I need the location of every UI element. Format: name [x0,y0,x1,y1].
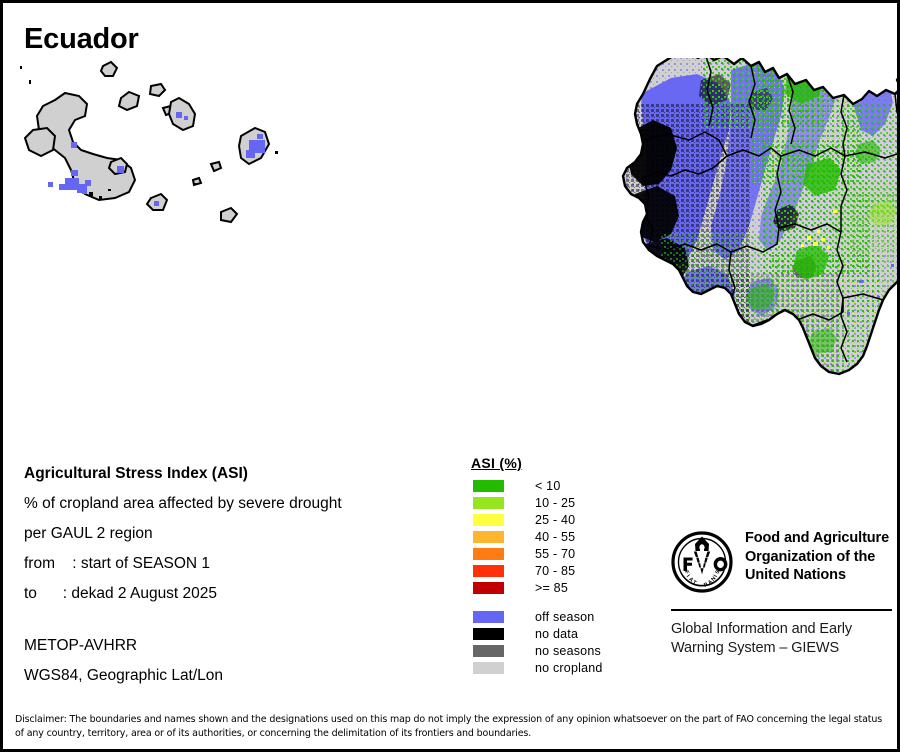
legend-row: 10 - 25 [471,494,661,511]
info-region-level: per GAUL 2 region [24,519,444,549]
legend-label: 25 - 40 [535,513,575,527]
info-description: % of cropland area affected by severe dr… [24,489,444,519]
legend-swatch-55-70 [473,548,504,560]
fao-branding: F I A T P A N I S Food and Agriculture O… [671,529,896,658]
legend-swatch-70-85 [473,565,504,577]
legend-label: no data [535,627,578,641]
legend-label: >= 85 [535,581,568,595]
giews-line1: Global Information and Early [671,620,896,639]
legend-swatch-40-55 [473,531,504,543]
legend-title: ASI (%) [471,455,661,471]
fao-org-name: Food and Agriculture Organization of the… [745,529,889,585]
fao-org-line1: Food and Agriculture [745,529,889,548]
legend-swatch-no-data [473,628,504,640]
legend-row: no data [471,625,661,642]
fao-org-line2: Organization of the [745,548,889,567]
info-sensor: METOP-AVHRR [24,631,444,661]
fao-org-line3: United Nations [745,566,889,585]
legend-label: no cropland [535,661,603,675]
legend-label: 55 - 70 [535,547,575,561]
legend-swatch-no-cropland [473,662,504,674]
legend-swatch-no-seasons [473,645,504,657]
legend-label: 70 - 85 [535,564,575,578]
legend-label: < 10 [535,479,560,493]
legend-row: >= 85 [471,579,661,596]
legend-row: no seasons [471,642,661,659]
giews-line2: Warning System – GIEWS [671,639,896,658]
page-title: Ecuador [24,23,139,56]
legend-swatch-off-season [473,611,504,623]
legend-row: < 10 [471,477,661,494]
galapagos-islands [25,62,278,222]
info-period-from: from : start of SEASON 1 [24,549,444,579]
legend-row: 40 - 55 [471,528,661,545]
legend-row: off season [471,608,661,625]
disclaimer-text: Disclaimer: The boundaries and names sho… [15,713,891,740]
legend-row: 25 - 40 [471,511,661,528]
legend-label: 10 - 25 [535,496,575,510]
legend-label: 40 - 55 [535,530,575,544]
map-canvas[interactable] [3,58,897,438]
info-heading: Agricultural Stress Index (ASI) [24,459,444,489]
legend-row: 70 - 85 [471,562,661,579]
info-period-to: to : dekad 2 August 2025 [24,579,444,609]
info-spacer [24,609,444,631]
asi-legend: ASI (%) < 10 10 - 25 25 - 40 40 - 55 55 … [471,455,661,676]
legend-row: 55 - 70 [471,545,661,562]
legend-label: no seasons [535,644,601,658]
info-projection: WGS84, Geographic Lat/Lon [24,661,444,691]
giews-name: Global Information and Early Warning Sys… [671,620,896,658]
asi-map-page: Ecuador [0,0,900,752]
ecuador-mainland [601,58,897,404]
legend-swatch-10-25 [473,497,504,509]
ecuador-map-svg [3,58,897,438]
legend-row: no cropland [471,659,661,676]
fao-logo-icon: F I A T P A N I S [671,531,733,598]
fao-divider [671,609,892,611]
legend-spacer [471,596,661,608]
legend-swatch-25-40 [473,514,504,526]
map-info-block: Agricultural Stress Index (ASI) % of cro… [24,459,444,691]
legend-swatch-gte85 [473,582,504,594]
legend-label: off season [535,610,594,624]
legend-swatch-lt10 [473,480,504,492]
